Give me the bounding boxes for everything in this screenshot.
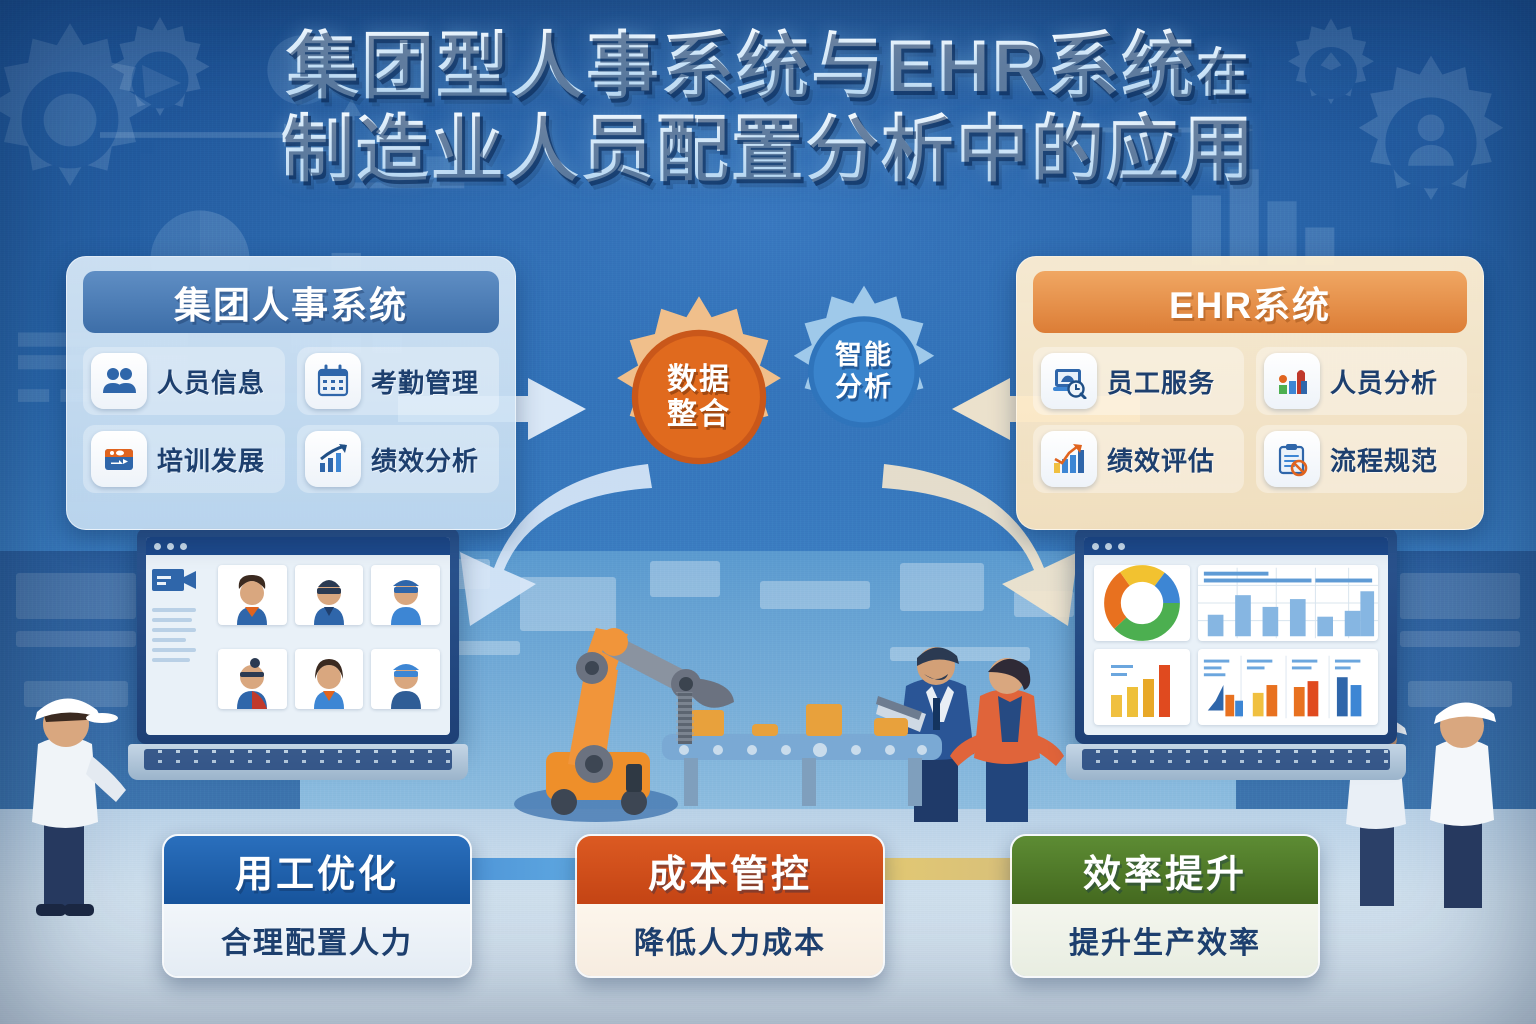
- analytics-dashboard: [1084, 555, 1388, 735]
- feature-item[interactable]: 培训发展: [83, 425, 285, 493]
- benefit-heading: 效率提升: [1012, 836, 1318, 904]
- analysis-gear-line1: 智能: [835, 340, 893, 372]
- window-dot: [167, 543, 174, 550]
- multi-bar-chart-tile[interactable]: [1198, 649, 1378, 725]
- hr-analytics-laptop[interactable]: [1066, 528, 1406, 780]
- benefit-subtext: 合理配置人力: [164, 904, 470, 976]
- left-sidebar-placeholder: [146, 555, 208, 735]
- feature-label: 流程规范: [1330, 441, 1438, 478]
- data-gear-line2: 整合: [667, 397, 731, 432]
- ehr-system-header: EHR系统: [1033, 271, 1467, 333]
- group-hr-system-header: 集团人事系统: [83, 271, 499, 333]
- infographic-canvas: 集团型人事系统与EHR系统在 制造业人员配置分析中的应用 集团人事系统 人员信息: [0, 0, 1536, 1024]
- employee-card[interactable]: [371, 649, 440, 709]
- left-window-titlebar: [146, 537, 450, 555]
- orange-robot-arm: [506, 612, 756, 827]
- window-dot: [154, 543, 161, 550]
- employee-card-grid: [208, 555, 450, 735]
- feature-label: 员工服务: [1107, 363, 1215, 400]
- benefit-heading: 成本管控: [577, 836, 883, 904]
- feature-item[interactable]: 考勤管理: [297, 347, 499, 415]
- employee-card[interactable]: [218, 565, 287, 625]
- connector-blue: [470, 858, 578, 880]
- colored-bars-icon: [1264, 353, 1320, 409]
- donut-chart-tile[interactable]: [1094, 565, 1190, 641]
- data-gear-line1: 数据: [667, 362, 731, 397]
- users-icon: [91, 353, 147, 409]
- title-line1-main: 集团型人事系统与EHR系统: [286, 26, 1196, 107]
- benefit-heading: 用工优化: [164, 836, 470, 904]
- center-gear-cluster: 智能 分析 数据 整合: [588, 280, 958, 540]
- window-dot: [1118, 543, 1125, 550]
- left-laptop-keyboard: [128, 744, 468, 780]
- benefit-card-labor-optimization[interactable]: 用工优化 合理配置人力: [162, 834, 472, 978]
- feature-label: 绩效分析: [371, 441, 479, 478]
- window-dot: [180, 543, 187, 550]
- employee-directory-laptop[interactable]: [128, 528, 468, 780]
- window-dot: [1092, 543, 1099, 550]
- id-card-icon: [91, 431, 147, 487]
- bar-growth-icon: [305, 431, 361, 487]
- feature-label: 人员分析: [1330, 363, 1438, 400]
- feature-label: 人员信息: [157, 363, 265, 400]
- title-line1-tail: 在: [1196, 45, 1250, 103]
- benefit-subtext: 降低人力成本: [577, 904, 883, 976]
- cost-bar-chart-tile[interactable]: [1094, 649, 1190, 725]
- feature-label: 考勤管理: [371, 363, 479, 400]
- monthly-bar-chart-tile[interactable]: [1198, 565, 1378, 641]
- data-integration-gear[interactable]: 数据 整合: [594, 292, 804, 502]
- clipboard-block-icon: [1264, 431, 1320, 487]
- feature-label: 培训发展: [157, 441, 265, 478]
- feature-item[interactable]: 流程规范: [1256, 425, 1467, 493]
- left-laptop-screen: [137, 528, 459, 744]
- window-dot: [1105, 543, 1112, 550]
- benefit-card-cost-control[interactable]: 成本管控 降低人力成本: [575, 834, 885, 978]
- feature-item[interactable]: 人员信息: [83, 347, 285, 415]
- feature-item[interactable]: 绩效分析: [297, 425, 499, 493]
- laptop-search-icon: [1041, 353, 1097, 409]
- right-window-titlebar: [1084, 537, 1388, 555]
- right-laptop-screen: [1075, 528, 1397, 744]
- title-line2: 制造业人员配置分析中的应用: [0, 111, 1536, 188]
- page-title: 集团型人事系统与EHR系统在 制造业人员配置分析中的应用: [0, 28, 1536, 189]
- feature-item[interactable]: 绩效评估: [1033, 425, 1244, 493]
- feature-label: 绩效评估: [1107, 441, 1215, 478]
- right-laptop-keyboard: [1066, 744, 1406, 780]
- employee-card[interactable]: [371, 565, 440, 625]
- employee-card[interactable]: [295, 565, 364, 625]
- benefit-subtext: 提升生产效率: [1012, 904, 1318, 976]
- employee-card[interactable]: [218, 649, 287, 709]
- calendar-icon: [305, 353, 361, 409]
- employee-card[interactable]: [295, 649, 364, 709]
- connector-gold: [882, 858, 1012, 880]
- feature-item[interactable]: 人员分析: [1256, 347, 1467, 415]
- group-hr-system-panel: 集团人事系统 人员信息: [66, 256, 516, 530]
- feature-item[interactable]: 员工服务: [1033, 347, 1244, 415]
- ehr-system-panel: EHR系统 员工服务: [1016, 256, 1484, 530]
- trend-chart-icon: [1041, 431, 1097, 487]
- video-icon: [152, 565, 198, 595]
- benefit-card-efficiency[interactable]: 效率提升 提升生产效率: [1010, 834, 1320, 978]
- benefit-card-row: 用工优化 合理配置人力 成本管控 降低人力成本 效率提升 提升生产效率: [0, 834, 1536, 984]
- analysis-gear-line2: 分析: [835, 372, 893, 404]
